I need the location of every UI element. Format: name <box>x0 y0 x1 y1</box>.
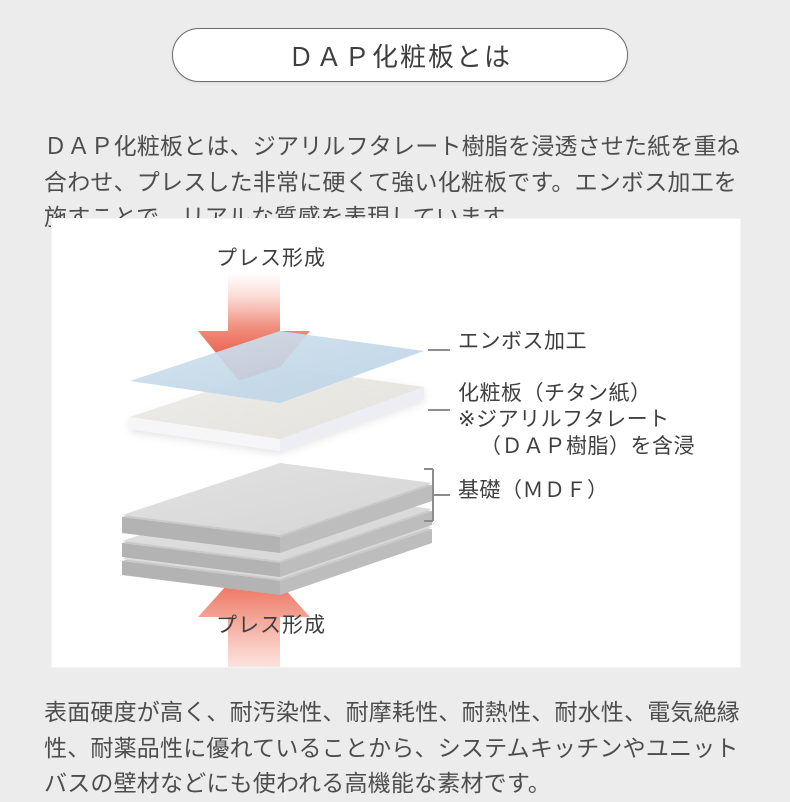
press-top-label: プレス形成 <box>216 246 326 272</box>
veneer-label-line2: ※ジアリルフタレート <box>458 407 695 433</box>
diagram-card: プレス形成 プレス形成 エンボス加工 化粧板（チタン紙） ※ジアリルフタレート … <box>52 219 740 667</box>
veneer-label: 化粧板（チタン紙） ※ジアリルフタレート （ＤＡＰ樹脂）を含浸 <box>458 381 695 460</box>
emboss-label: エンボス加工 <box>458 329 587 355</box>
page-title-pill: ＤＡＰ化粧板とは <box>172 28 628 82</box>
page-title: ＤＡＰ化粧板とは <box>288 37 512 74</box>
press-bottom-label: プレス形成 <box>216 613 326 639</box>
outro-paragraph: 表面硬度が高く、耐汚染性、耐摩耗性、耐熱性、耐水性、電気絶縁性、耐薬品性に優れて… <box>44 695 754 802</box>
base-label: 基礎（ＭＤＦ） <box>458 478 609 504</box>
veneer-label-line3: （ＤＡＰ樹脂）を含浸 <box>458 434 695 460</box>
veneer-label-line1: 化粧板（チタン紙） <box>458 382 652 405</box>
